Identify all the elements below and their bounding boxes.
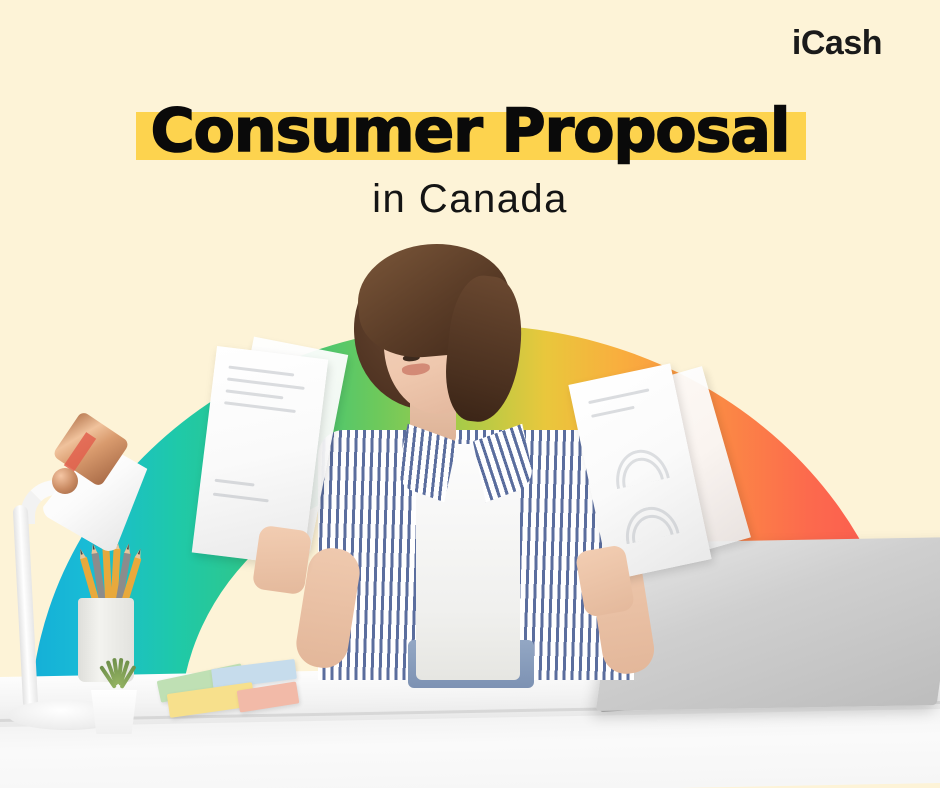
page-subtitle: in Canada xyxy=(0,177,940,222)
page-title: Consumer Proposal xyxy=(0,100,940,163)
headline-block: Consumer Proposal in Canada xyxy=(0,100,940,222)
rainbow-arc xyxy=(0,255,940,725)
banner-canvas: Consumer Proposal in Canada iCash xyxy=(0,0,940,788)
brand-logo[interactable]: iCash xyxy=(792,24,882,63)
